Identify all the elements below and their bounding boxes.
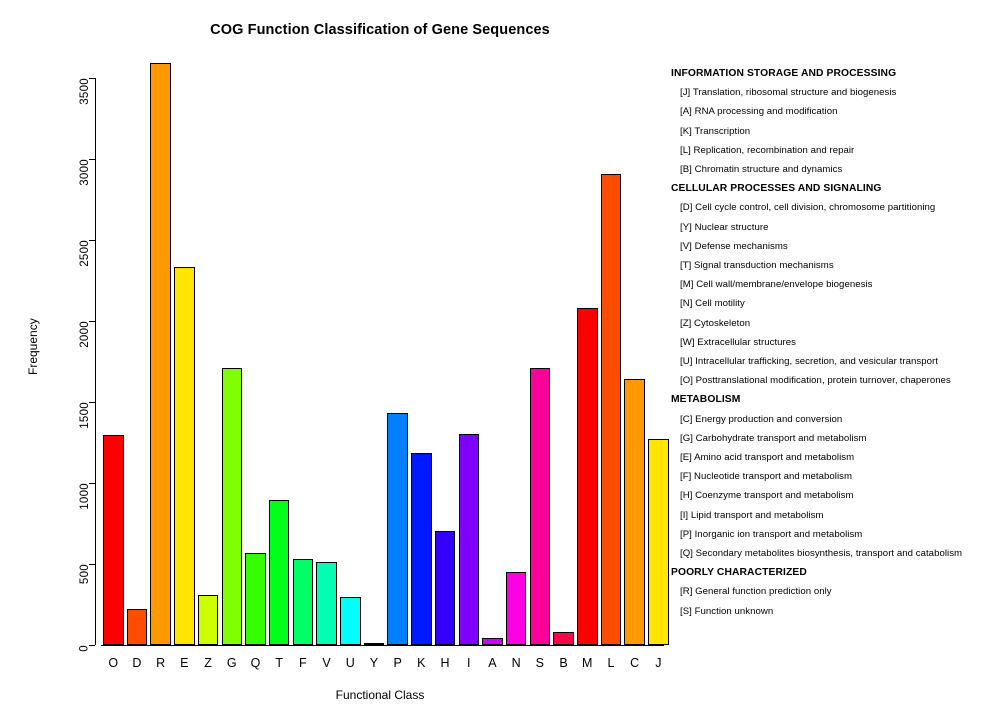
legend-heading: POORLY CHARACTERIZED	[671, 563, 991, 582]
bar-c[interactable]	[624, 379, 645, 645]
y-axis-tick-label: 2500	[79, 240, 91, 267]
x-axis-tick-label-g: G	[227, 656, 237, 670]
x-axis-tick-label-u: U	[346, 656, 355, 670]
x-axis-tick-label-j: J	[655, 656, 661, 670]
legend-entry: [P] Inorganic ion transport and metaboli…	[671, 525, 991, 544]
x-axis-tick-label-l: L	[607, 656, 614, 670]
bar-l[interactable]	[601, 174, 622, 645]
y-axis-tick-label: 1000	[79, 483, 91, 510]
x-axis-tick-label-i: I	[467, 656, 470, 670]
x-axis-tick-label-v: V	[322, 656, 330, 670]
bar-p[interactable]	[387, 413, 408, 645]
bar-j[interactable]	[648, 439, 669, 645]
legend-entry: [E] Amino acid transport and metabolism	[671, 448, 991, 467]
y-axis-tick-label: 500	[79, 564, 91, 584]
x-axis-tick-label-z: Z	[204, 656, 212, 670]
legend-entry: [R] General function prediction only	[671, 582, 991, 601]
x-axis-tick-label-d: D	[132, 656, 141, 670]
y-axis-tick-label: 0	[79, 645, 91, 652]
bar-b[interactable]	[553, 632, 574, 645]
y-axis-tick: 1000	[89, 483, 95, 484]
bar-q[interactable]	[245, 553, 266, 645]
bar-s[interactable]	[530, 368, 551, 645]
legend-entry: [I] Lipid transport and metabolism	[671, 506, 991, 525]
y-axis-title: Frequency	[26, 318, 40, 375]
legend-entry: [M] Cell wall/membrane/envelope biogenes…	[671, 275, 991, 294]
legend-entry: [N] Cell motility	[671, 294, 991, 313]
legend-entry: [W] Extracellular structures	[671, 333, 991, 352]
bars-layer	[95, 55, 665, 647]
x-axis-tick-label-s: S	[536, 656, 544, 670]
bar-g[interactable]	[222, 368, 243, 645]
bar-o[interactable]	[103, 435, 124, 645]
y-axis-tick-label: 1500	[79, 402, 91, 429]
x-axis-tick-label-q: Q	[251, 656, 261, 670]
legend-heading: CELLULAR PROCESSES AND SIGNALING	[671, 179, 991, 198]
bar-r[interactable]	[150, 63, 171, 645]
x-axis-tick-label-p: P	[393, 656, 401, 670]
y-axis-tick: 3500	[89, 78, 95, 79]
x-axis-tick-label-k: K	[417, 656, 425, 670]
legend-entry: [J] Translation, ribosomal structure and…	[671, 83, 991, 102]
x-axis-tick-label-t: T	[275, 656, 283, 670]
bar-n[interactable]	[506, 572, 527, 645]
bar-t[interactable]	[269, 500, 290, 645]
legend-entry: [D] Cell cycle control, cell division, c…	[671, 198, 991, 217]
bar-d[interactable]	[127, 609, 148, 645]
legend-entry: [V] Defense mechanisms	[671, 237, 991, 256]
legend-entry: [F] Nucleotide transport and metabolism	[671, 467, 991, 486]
bar-f[interactable]	[293, 559, 314, 645]
x-axis-tick-label-e: E	[180, 656, 188, 670]
bar-v[interactable]	[316, 562, 337, 645]
y-axis-tick-label: 3500	[79, 78, 91, 105]
legend-entry: [C] Energy production and conversion	[671, 410, 991, 429]
legend-entry: [K] Transcription	[671, 122, 991, 141]
y-axis-tick: 1500	[89, 402, 95, 403]
legend-entry: [B] Chromatin structure and dynamics	[671, 160, 991, 179]
bar-e[interactable]	[174, 267, 195, 645]
chart-title: COG Function Classification of Gene Sequ…	[0, 22, 760, 38]
y-axis-tick: 2500	[89, 240, 95, 241]
x-axis-tick-label-r: R	[156, 656, 165, 670]
legend-heading: INFORMATION STORAGE AND PROCESSING	[671, 64, 991, 83]
legend-entry: [Y] Nuclear structure	[671, 218, 991, 237]
legend-heading: METABOLISM	[671, 390, 991, 409]
x-axis-tick-label-a: A	[488, 656, 496, 670]
bar-a[interactable]	[482, 638, 503, 645]
x-axis-tick-label-m: M	[582, 656, 592, 670]
x-axis-title: Functional Class	[95, 688, 665, 702]
x-axis-tick-label-n: N	[512, 656, 521, 670]
legend-entry: [S] Function unknown	[671, 602, 991, 621]
legend-entry: [A] RNA processing and modification	[671, 102, 991, 121]
y-axis-tick: 2000	[89, 321, 95, 322]
y-axis-tick: 0	[89, 645, 95, 646]
x-axis-tick-label-b: B	[559, 656, 567, 670]
x-axis-tick-label-y: Y	[370, 656, 378, 670]
legend-entry: [O] Posttranslational modification, prot…	[671, 371, 991, 390]
x-axis-tick-label-h: H	[441, 656, 450, 670]
bar-z[interactable]	[198, 595, 219, 645]
bar-m[interactable]	[577, 308, 598, 645]
legend-entry: [G] Carbohydrate transport and metabolis…	[671, 429, 991, 448]
y-axis-tick: 500	[89, 564, 95, 565]
x-axis-tick-label-o: O	[108, 656, 118, 670]
legend: INFORMATION STORAGE AND PROCESSING[J] Tr…	[671, 64, 991, 621]
legend-entry: [H] Coenzyme transport and metabolism	[671, 486, 991, 505]
bar-y[interactable]	[364, 643, 385, 646]
bar-k[interactable]	[411, 453, 432, 645]
legend-entry: [L] Replication, recombination and repai…	[671, 141, 991, 160]
bar-h[interactable]	[435, 531, 456, 645]
x-axis-tick-label-c: C	[630, 656, 639, 670]
y-axis-tick: 3000	[89, 159, 95, 160]
x-axis-tick-label-f: F	[299, 656, 307, 670]
legend-entry: [Z] Cytoskeleton	[671, 314, 991, 333]
y-axis-tick-label: 2000	[79, 321, 91, 348]
legend-entry: [Q] Secondary metabolites biosynthesis, …	[671, 544, 991, 563]
plot-area: 0500100015002000250030003500 ODREZGQTFVU…	[95, 55, 665, 647]
cog-function-bar-chart: COG Function Classification of Gene Sequ…	[0, 0, 999, 712]
legend-entry: [T] Signal transduction mechanisms	[671, 256, 991, 275]
legend-entry: [U] Intracellular trafficking, secretion…	[671, 352, 991, 371]
y-axis-tick-label: 3000	[79, 159, 91, 186]
bar-i[interactable]	[459, 434, 480, 645]
bar-u[interactable]	[340, 597, 361, 645]
